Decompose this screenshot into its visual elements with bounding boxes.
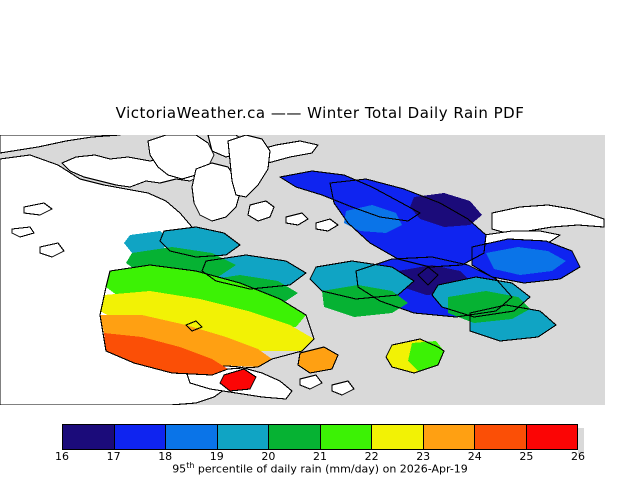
colorbar [62,424,578,450]
colorbar-band-18-19 [166,425,218,449]
colorbar-band-16-17 [63,425,115,449]
colorbar-band-23-24 [424,425,476,449]
colorbar-caption: 95th percentile of daily rain (mm/day) o… [0,461,640,476]
colorbar-band-21-22 [321,425,373,449]
colorbar-band-22-23 [372,425,424,449]
page-title: VictoriaWeather.ca —— Winter Total Daily… [0,104,640,122]
colorbar-band-17-18 [115,425,167,449]
colorbar-band-20-21 [269,425,321,449]
colorbar-band-25-26 [527,425,578,449]
colorbar-swatches [62,424,578,450]
colorbar-band-19-20 [218,425,270,449]
rain-contour-map [0,135,605,405]
colorbar-band-24-25 [475,425,527,449]
